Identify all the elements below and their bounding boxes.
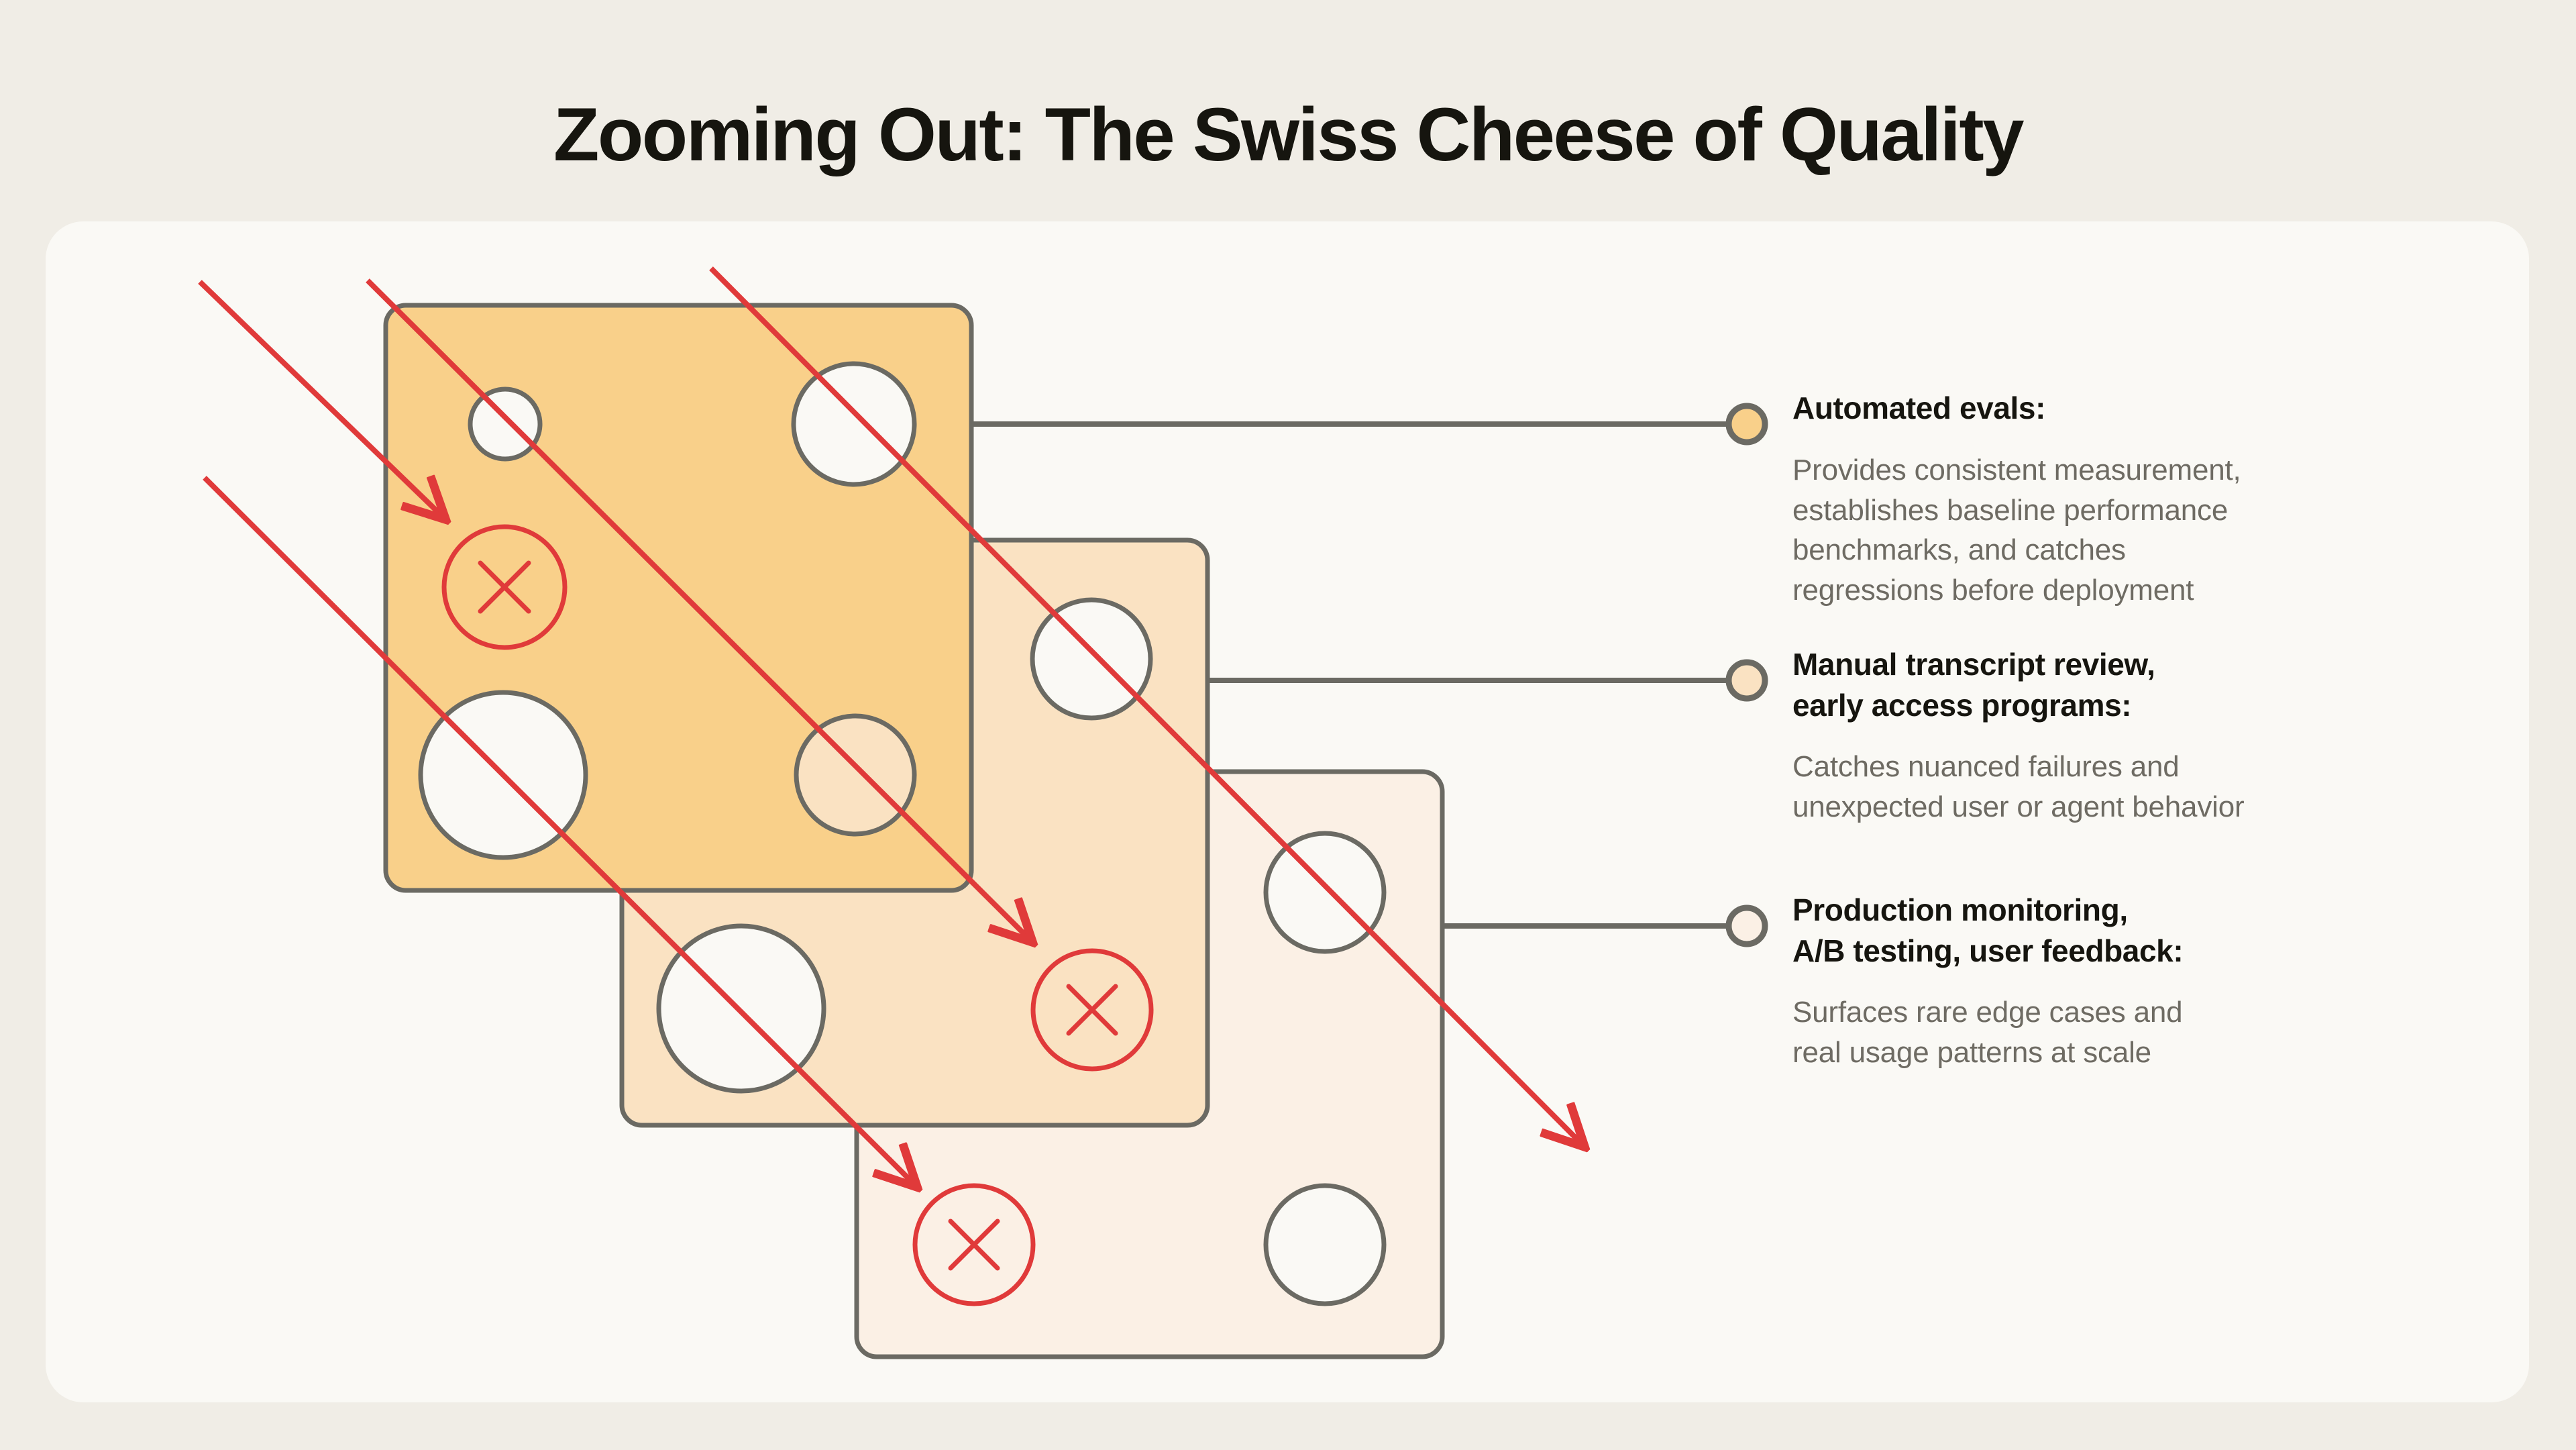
legend-entry-automated-evals[interactable]: Automated evals: Provides consistent mea… — [1792, 388, 2450, 611]
legend-description: Surfaces rare edge cases and real usage … — [1792, 992, 2450, 1073]
legend-entry-production-monitoring[interactable]: Production monitoring, A/B testing, user… — [1792, 890, 2450, 1073]
infographic-stage: Zooming Out: The Swiss Cheese of Quality — [0, 0, 2576, 1450]
legend-description: Provides consistent measurement, establi… — [1792, 450, 2450, 611]
legend-title: Manual transcript review, early access p… — [1792, 644, 2450, 725]
legend-entry-manual-review[interactable]: Manual transcript review, early access p… — [1792, 644, 2450, 827]
legend-title: Automated evals: — [1792, 388, 2450, 429]
legend-title: Production monitoring, A/B testing, user… — [1792, 890, 2450, 971]
legend-description: Catches nuanced failures and unexpected … — [1792, 747, 2450, 827]
page-title: Zooming Out: The Swiss Cheese of Quality — [0, 93, 2576, 176]
